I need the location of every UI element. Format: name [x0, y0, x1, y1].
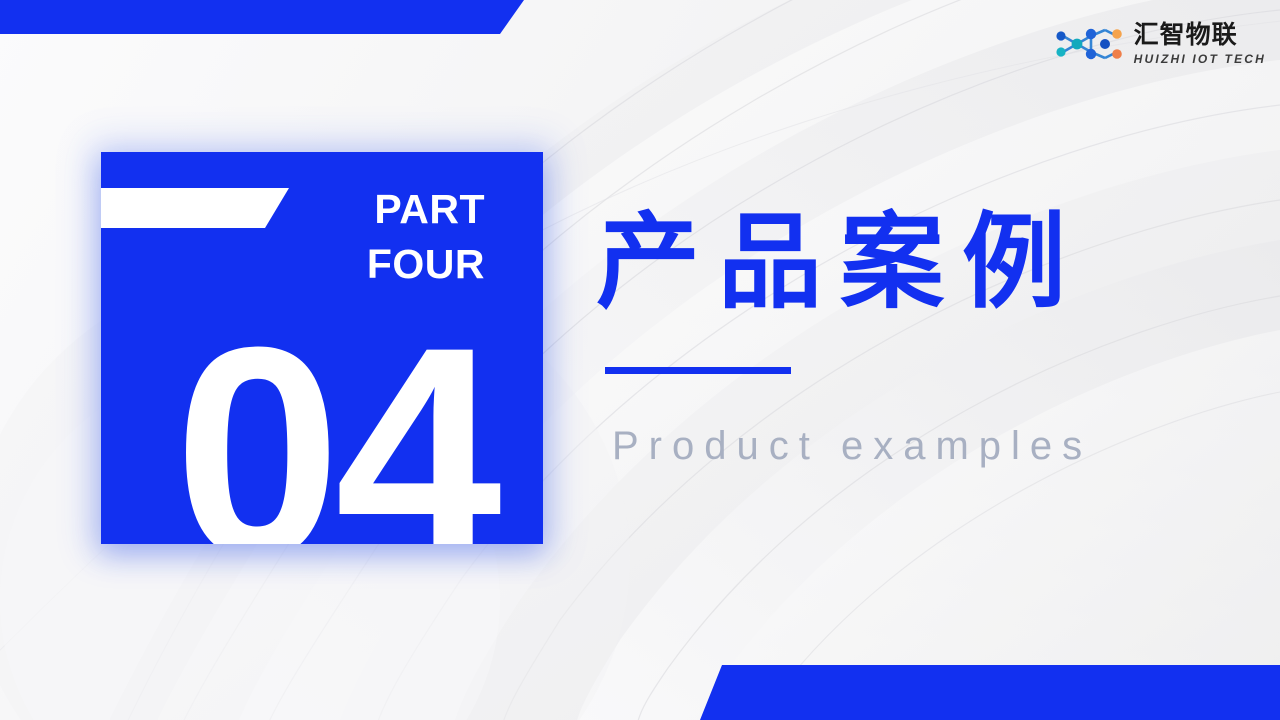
section-number: 04 — [101, 302, 543, 544]
bottom-right-blue-banner — [700, 665, 1280, 720]
logo-name-cn: 汇智物联 — [1134, 23, 1266, 48]
page-title-en: Product examples — [612, 424, 1092, 469]
title-underline — [605, 367, 791, 374]
logo-name-en: HUIZHI IOT TECH — [1134, 53, 1266, 65]
top-left-blue-banner — [0, 0, 524, 34]
slide-root: PART FOUR 04 产品案例 Product examples — [0, 0, 1280, 720]
part-label: PART FOUR — [255, 182, 485, 291]
company-logo: 汇智物联 HUIZHI IOT TECH — [1049, 23, 1266, 65]
molecule-network-icon — [1049, 23, 1127, 65]
part-label-line2: FOUR — [255, 237, 485, 292]
page-title-cn: 产品案例 — [596, 206, 1084, 320]
part-label-line1: PART — [255, 182, 485, 237]
part-card: PART FOUR 04 — [101, 152, 543, 544]
logo-text-block: 汇智物联 HUIZHI IOT TECH — [1134, 23, 1266, 65]
